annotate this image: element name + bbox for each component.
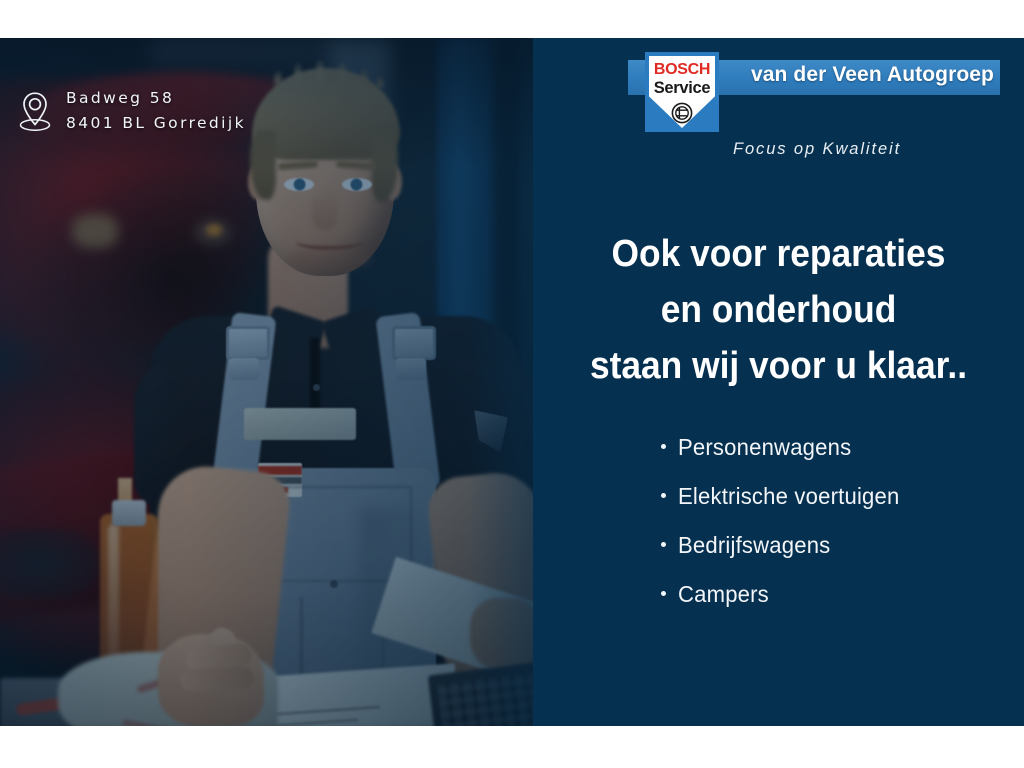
company-tagline: Focus op Kwaliteit: [733, 140, 901, 159]
mechanic-photo: [0, 38, 533, 726]
list-item: Campers: [533, 570, 1024, 619]
headline-line-2: en onderhoud: [550, 282, 1007, 338]
service-label: Bedrijfswagens: [678, 521, 830, 570]
bullet-dot-icon: [661, 444, 666, 449]
services-list: Personenwagens Elektrische voertuigen Be…: [533, 423, 1024, 619]
address-overlay: Badweg 58 8401 BL Gorredijk: [18, 86, 246, 136]
headline-line-1: Ook voor reparaties: [550, 226, 1007, 282]
bosch-armature-icon: [671, 102, 693, 124]
address-line-1: Badweg 58: [66, 86, 246, 111]
list-item: Elektrische voertuigen: [533, 472, 1024, 521]
list-item: Personenwagens: [533, 423, 1024, 472]
bullet-dot-icon: [661, 591, 666, 596]
bosch-logo-wordmark: BOSCH: [649, 61, 715, 79]
bullet-dot-icon: [661, 542, 666, 547]
bullet-dot-icon: [661, 493, 666, 498]
info-panel: BOSCH Service van der Veen Autogroep Foc…: [533, 38, 1024, 726]
address-text: Badweg 58 8401 BL Gorredijk: [66, 86, 246, 136]
company-name: van der Veen Autogroep: [751, 63, 994, 87]
list-item: Bedrijfswagens: [533, 521, 1024, 570]
address-line-2: 8401 BL Gorredijk: [66, 111, 246, 136]
service-label: Campers: [678, 570, 769, 619]
bosch-service-logo[interactable]: BOSCH Service: [645, 52, 719, 132]
service-label: Elektrische voertuigen: [678, 472, 899, 521]
location-pin-icon: [18, 90, 52, 132]
headline-line-3: staan wij voor u klaar..: [550, 338, 1007, 394]
promo-banner: Badweg 58 8401 BL Gorredijk BOSCH Servic…: [0, 38, 1024, 726]
bosch-logo-service-text: Service: [649, 79, 715, 98]
headline: Ook voor reparaties en onderhoud staan w…: [550, 226, 1007, 394]
service-label: Personenwagens: [678, 423, 851, 472]
